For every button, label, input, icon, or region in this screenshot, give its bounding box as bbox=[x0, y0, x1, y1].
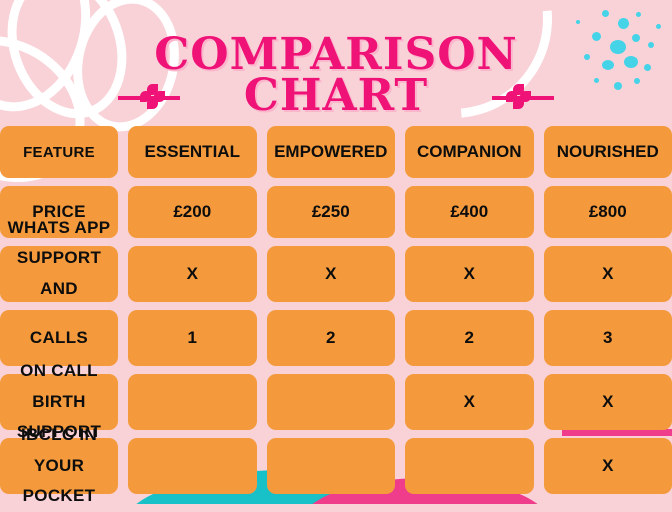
table-row: WHATS APP SUPPORT AND TEMPLATES X X X X bbox=[0, 246, 672, 302]
cell-whatsapp-companion: X bbox=[405, 246, 534, 302]
column-header-feature: FEATURE bbox=[0, 126, 118, 178]
cell-price-essential: £200 bbox=[128, 186, 257, 238]
cell-whatsapp-nourished: X bbox=[544, 246, 672, 302]
cell-ibclc-essential bbox=[128, 438, 257, 494]
table-row: IBCLC IN YOUR POCKET X bbox=[0, 438, 672, 494]
column-header-essential: ESSENTIAL bbox=[128, 126, 257, 178]
row-label-line: WHATS APP SUPPORT bbox=[4, 213, 114, 274]
row-label-whatsapp-support: WHATS APP SUPPORT AND TEMPLATES bbox=[0, 246, 118, 302]
cell-price-companion: £400 bbox=[405, 186, 534, 238]
cell-ibclc-empowered bbox=[267, 438, 396, 494]
cell-ibclc-nourished: X bbox=[544, 438, 672, 494]
cell-calls-companion: 2 bbox=[405, 310, 534, 366]
column-header-nourished: NOURISHED bbox=[544, 126, 672, 178]
cell-oncall-nourished: X bbox=[544, 374, 672, 430]
column-header-companion: COMPANION bbox=[405, 126, 534, 178]
row-label-line: IBCLC IN YOUR bbox=[4, 420, 114, 481]
cell-ibclc-companion bbox=[405, 438, 534, 494]
cell-oncall-essential bbox=[128, 374, 257, 430]
row-label-line: ON CALL BIRTH bbox=[4, 356, 114, 417]
cell-whatsapp-essential: X bbox=[128, 246, 257, 302]
title-line-1: COMPARISON bbox=[0, 34, 672, 75]
comparison-table: FEATURE ESSENTIAL EMPOWERED COMPANION NO… bbox=[0, 126, 672, 502]
cell-oncall-empowered bbox=[267, 374, 396, 430]
cell-whatsapp-empowered: X bbox=[267, 246, 396, 302]
row-label-line: POCKET bbox=[4, 481, 114, 512]
table-header-row: FEATURE ESSENTIAL EMPOWERED COMPANION NO… bbox=[0, 126, 672, 178]
cell-price-empowered: £250 bbox=[267, 186, 396, 238]
page-title: COMPARISON CHART bbox=[0, 34, 672, 117]
cell-calls-essential: 1 bbox=[128, 310, 257, 366]
title-line-2: CHART bbox=[0, 75, 672, 116]
cell-price-nourished: £800 bbox=[544, 186, 672, 238]
cell-calls-empowered: 2 bbox=[267, 310, 396, 366]
row-label-ibclc-in-your-pocket: IBCLC IN YOUR POCKET bbox=[0, 438, 118, 494]
cell-oncall-companion: X bbox=[405, 374, 534, 430]
cell-calls-nourished: 3 bbox=[544, 310, 672, 366]
column-header-empowered: EMPOWERED bbox=[267, 126, 396, 178]
